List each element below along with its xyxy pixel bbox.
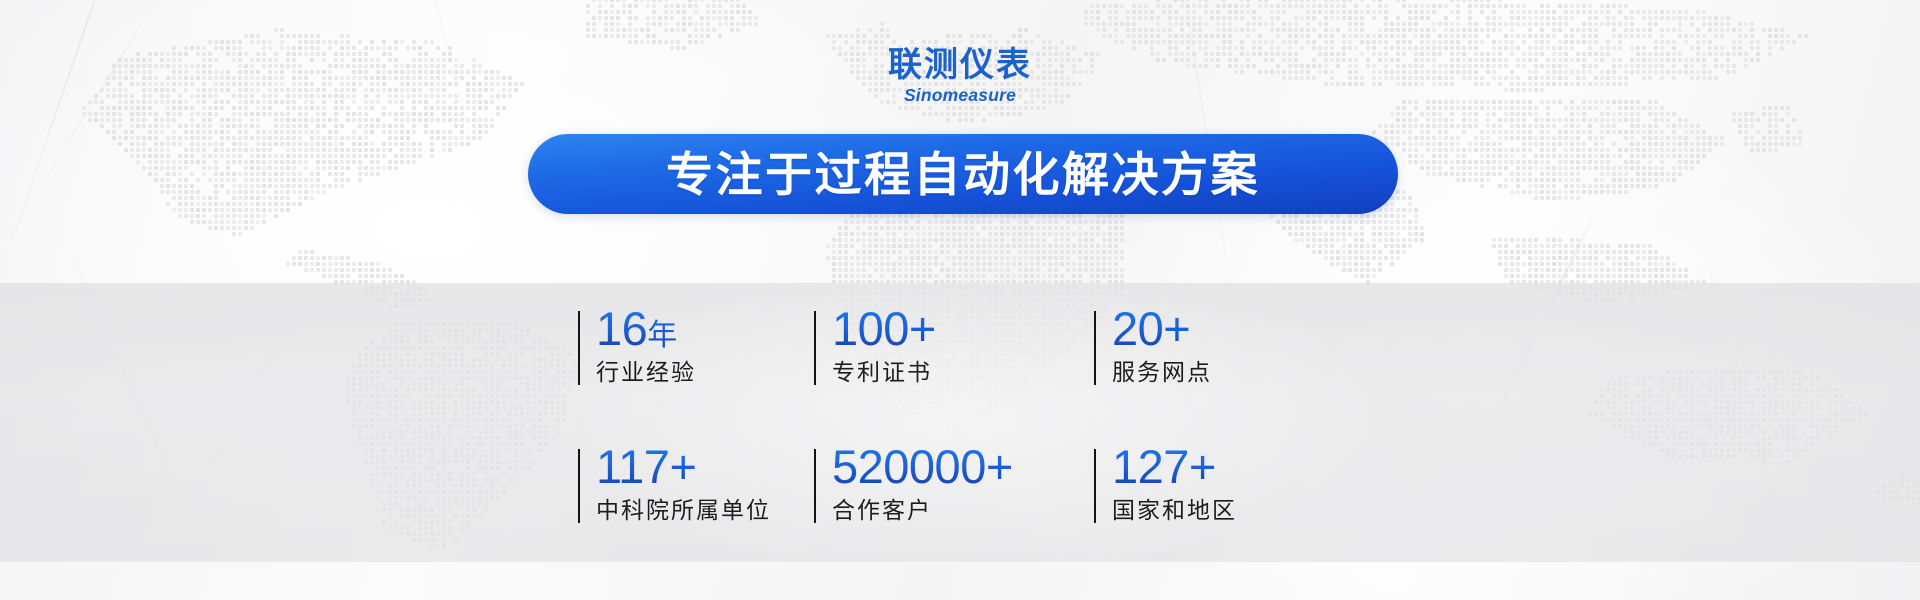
stat-number: 520000+ (832, 443, 1094, 491)
stat-item-cas-units: 117+ 中科院所属单位 (578, 443, 814, 581)
stat-suffix: 年 (647, 319, 677, 352)
brand-name-cn: 联测仪表 (0, 48, 1920, 82)
promo-banner: 联测仪表 Sinomeasure 专注于过程自动化解决方案 16年 行业经验 1… (0, 0, 1920, 600)
headline-pill: 专注于过程自动化解决方案 (528, 134, 1398, 214)
stat-number: 20+ (1112, 305, 1358, 353)
stat-number: 117+ (596, 443, 814, 491)
stat-plus: + (1163, 302, 1190, 355)
brand-name-en: Sinomeasure (0, 87, 1920, 105)
stat-item-customers: 520000+ 合作客户 (814, 443, 1094, 581)
stat-plus: + (986, 440, 1013, 493)
stat-plus: + (909, 302, 936, 355)
stat-label: 合作客户 (832, 497, 1094, 525)
headline-text: 专注于过程自动化解决方案 (666, 151, 1260, 198)
stat-label: 国家和地区 (1112, 497, 1358, 525)
stat-plus: + (1189, 440, 1216, 493)
stat-item-patents: 100+ 专利证书 (814, 305, 1094, 443)
brand-logo: 联测仪表 Sinomeasure (0, 48, 1920, 105)
stat-number: 127+ (1112, 443, 1358, 491)
stat-label: 专利证书 (832, 359, 1094, 387)
stat-item-countries: 127+ 国家和地区 (1094, 443, 1358, 581)
stat-label: 行业经验 (596, 359, 814, 387)
stat-number: 16年 (596, 305, 814, 353)
stat-label: 中科院所属单位 (596, 497, 814, 525)
stat-item-years: 16年 行业经验 (578, 305, 814, 443)
stat-number: 100+ (832, 305, 1094, 353)
stat-label: 服务网点 (1112, 359, 1358, 387)
stats-grid: 16年 行业经验 100+ 专利证书 20+ 服务网点 117+ 中科院所属单位… (578, 305, 1358, 581)
stat-plus: + (669, 440, 696, 493)
stat-item-service-points: 20+ 服务网点 (1094, 305, 1358, 443)
